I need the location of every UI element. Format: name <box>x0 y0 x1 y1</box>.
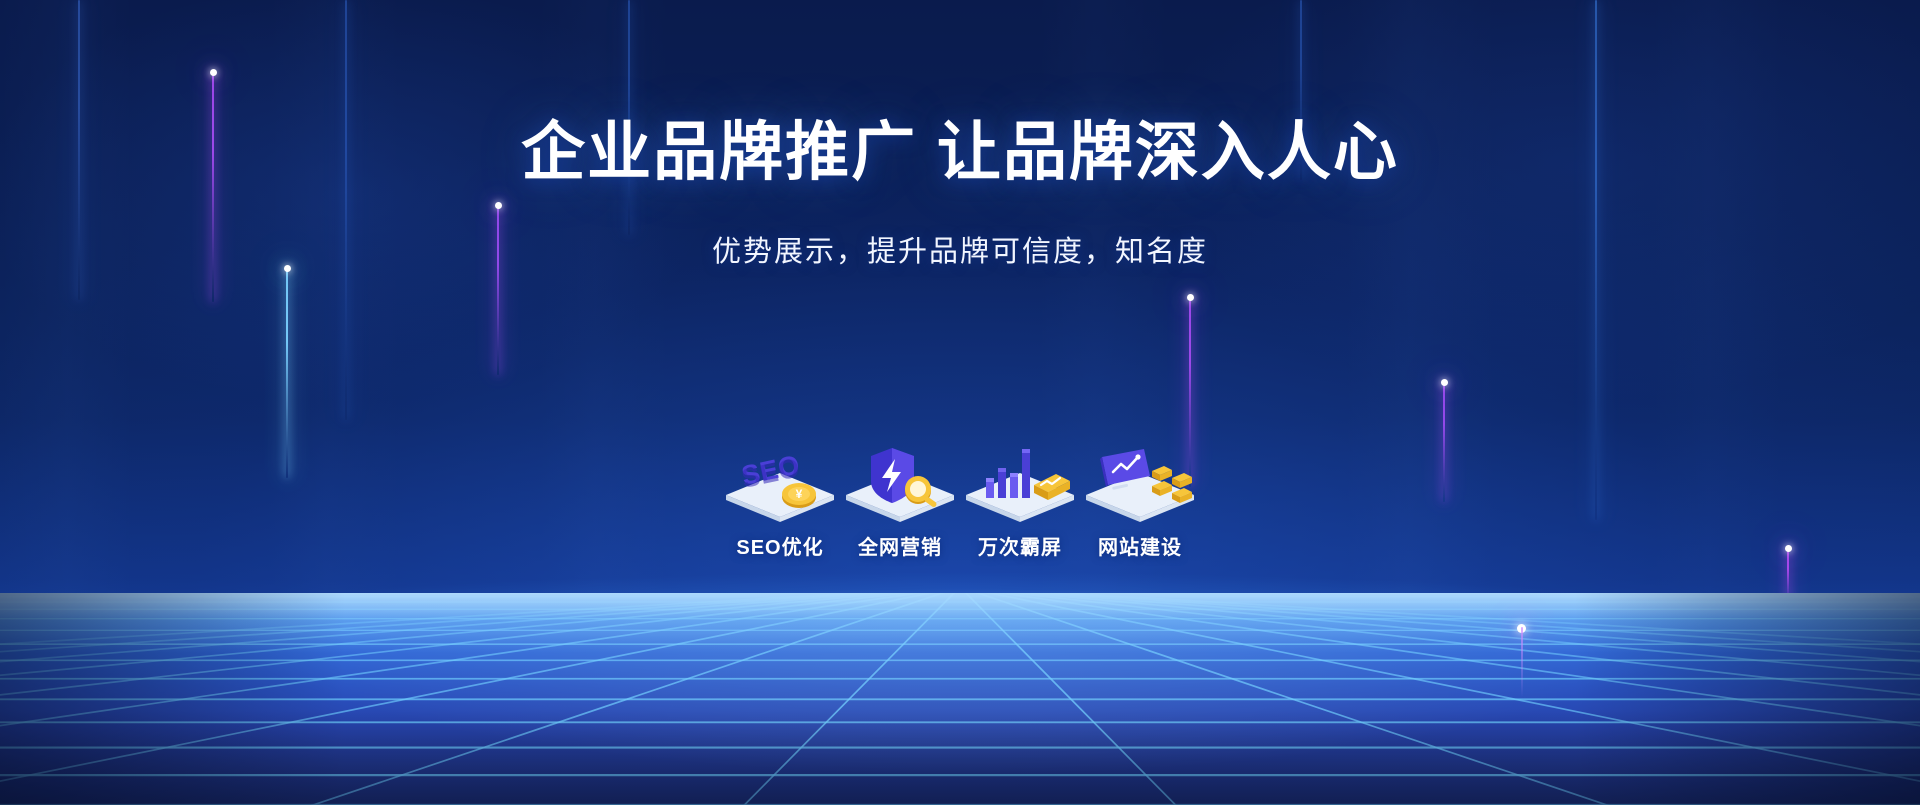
feature-item-4[interactable]: 网站建设 <box>1080 445 1200 560</box>
feature-item-2[interactable]: 全网营销 <box>840 445 960 560</box>
feature-label-4: 网站建设 <box>1098 531 1182 560</box>
banner-title: 企业品牌推广 让品牌深入人心 <box>0 115 1920 191</box>
banner-subtitle: 优势展示，提升品牌可信度，知名度 <box>0 228 1920 270</box>
promo-banner: 企业品牌推广 让品牌深入人心 优势展示，提升品牌可信度，知名度 SEOSEO¥S… <box>0 0 1920 805</box>
feature-label-1: SEO优化 <box>736 531 823 560</box>
feature-item-1[interactable]: SEOSEO¥SEO优化 <box>720 445 840 560</box>
seo-coin-icon: SEOSEO¥ <box>720 445 840 517</box>
bar-chart-card-icon <box>960 445 1080 517</box>
yellow-coin: ¥ <box>782 483 816 508</box>
feature-label-2: 全网营销 <box>858 531 942 560</box>
shield-bolt-search-icon <box>840 445 960 517</box>
banner-content: 企业品牌推广 让品牌深入人心 优势展示，提升品牌可信度，知名度 SEOSEO¥S… <box>0 0 1920 805</box>
feature-item-3[interactable]: 万次霸屏 <box>960 445 1080 560</box>
feature-label-3: 万次霸屏 <box>978 531 1062 560</box>
feature-list: SEOSEO¥SEO优化全网营销万次霸屏网站建设 <box>0 445 1920 560</box>
svg-text:¥: ¥ <box>796 487 803 501</box>
monitor-blocks-icon <box>1080 445 1200 517</box>
